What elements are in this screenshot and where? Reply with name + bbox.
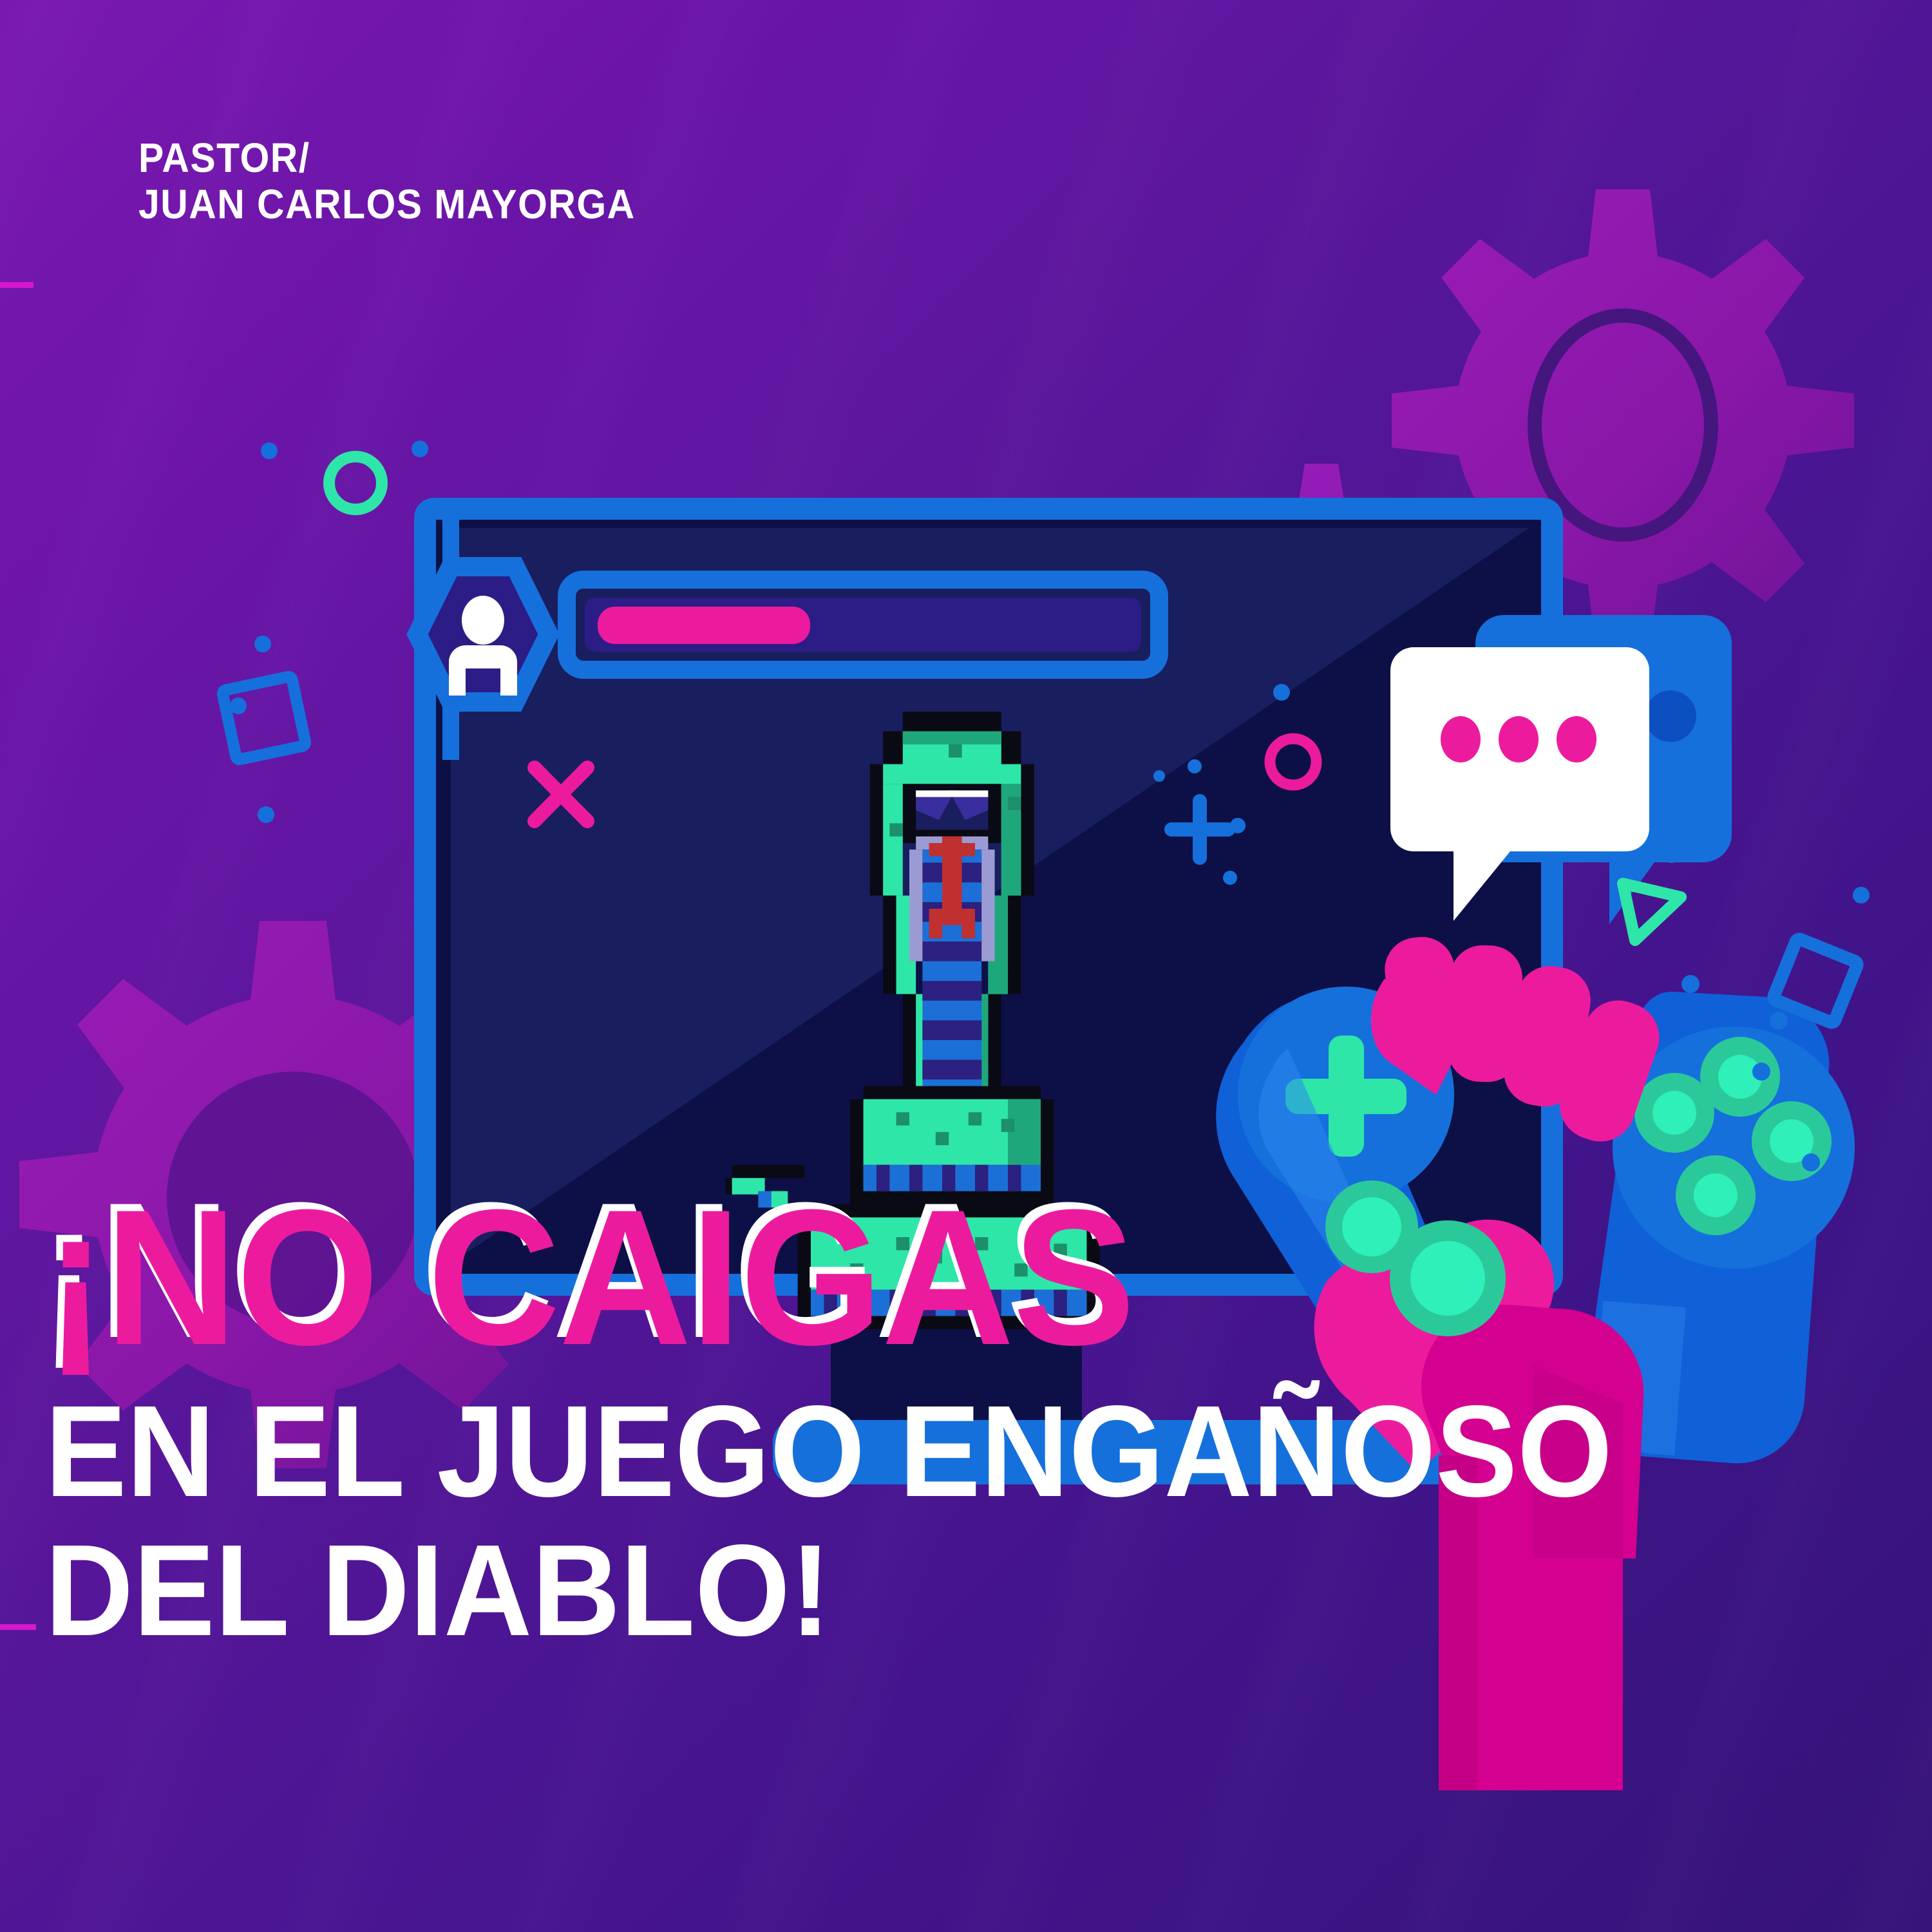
typing-dots [1441,716,1596,762]
green-circle-outline-icon [329,457,382,509]
magenta-edge-tick-icon [0,282,33,288]
chat-dot-blue [1645,690,1696,742]
headline-line-2: EN EL JUEGO ENGAÑOSO [45,1387,1788,1516]
blue-square-outline-icon [222,676,306,760]
magenta-edge-tick-2-icon [0,1624,36,1630]
headline-line-1: ¡NO CAIGAS [45,1182,1807,1373]
headline-line-3: DEL DIABLO! [45,1526,1788,1655]
blue-square-outline-right-icon [1773,938,1859,1024]
poster-canvas: PASTOR/ JUAN CARLOS MAYORGA [0,0,1932,1932]
progress-bar-fill [598,607,810,644]
headline-block: ¡NO CAIGAS EN EL JUEGO ENGAÑOSO DEL DIAB… [45,1182,1900,1655]
